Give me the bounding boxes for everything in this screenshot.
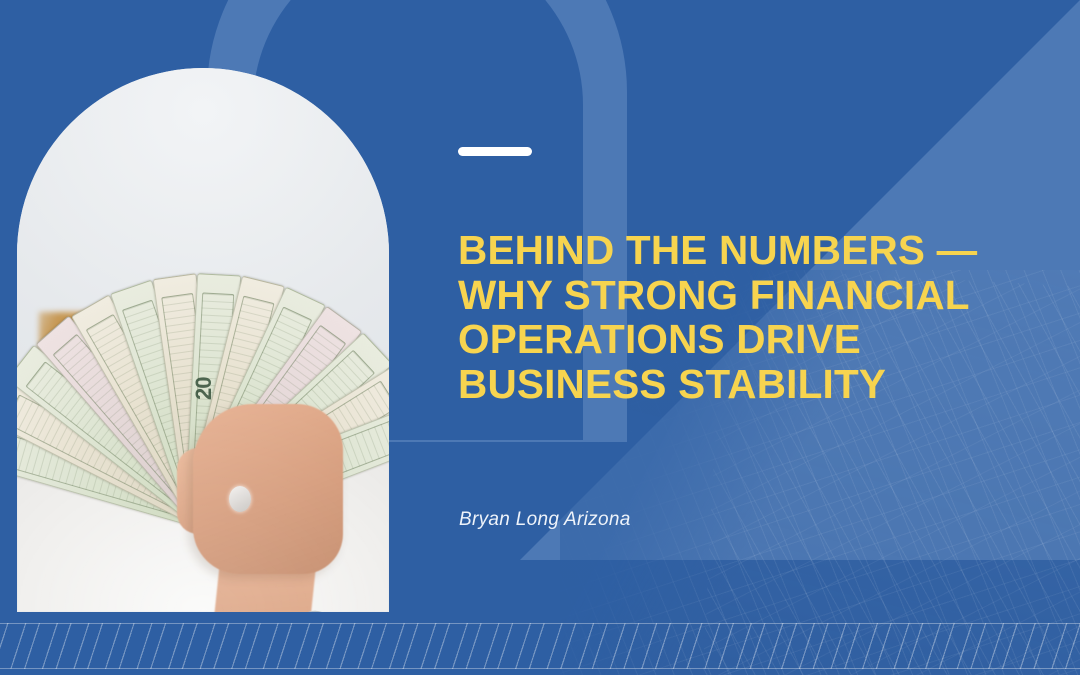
hand-region xyxy=(193,404,343,574)
hero-photo-arch: 20 xyxy=(17,68,389,612)
hero-photo: 20 xyxy=(17,68,389,612)
bill-denomination-label: 20 xyxy=(191,366,221,400)
diagonal-stripe-band xyxy=(0,613,1080,675)
stripe-band-bottom-rule xyxy=(0,668,1080,669)
text-column: Behind the Numbers — Why Strong Financia… xyxy=(458,0,1038,675)
dash-accent xyxy=(458,147,532,156)
stripe-pattern xyxy=(0,623,1080,669)
author-byline: Bryan Long Arizona xyxy=(459,508,631,533)
stripe-band-top-rule xyxy=(0,623,1080,624)
page-title: Behind the Numbers — Why Strong Financia… xyxy=(458,228,1032,406)
blog-banner: 20 Behind the Numbers — Why Strong Finan… xyxy=(0,0,1080,675)
finger-ring xyxy=(229,486,251,512)
